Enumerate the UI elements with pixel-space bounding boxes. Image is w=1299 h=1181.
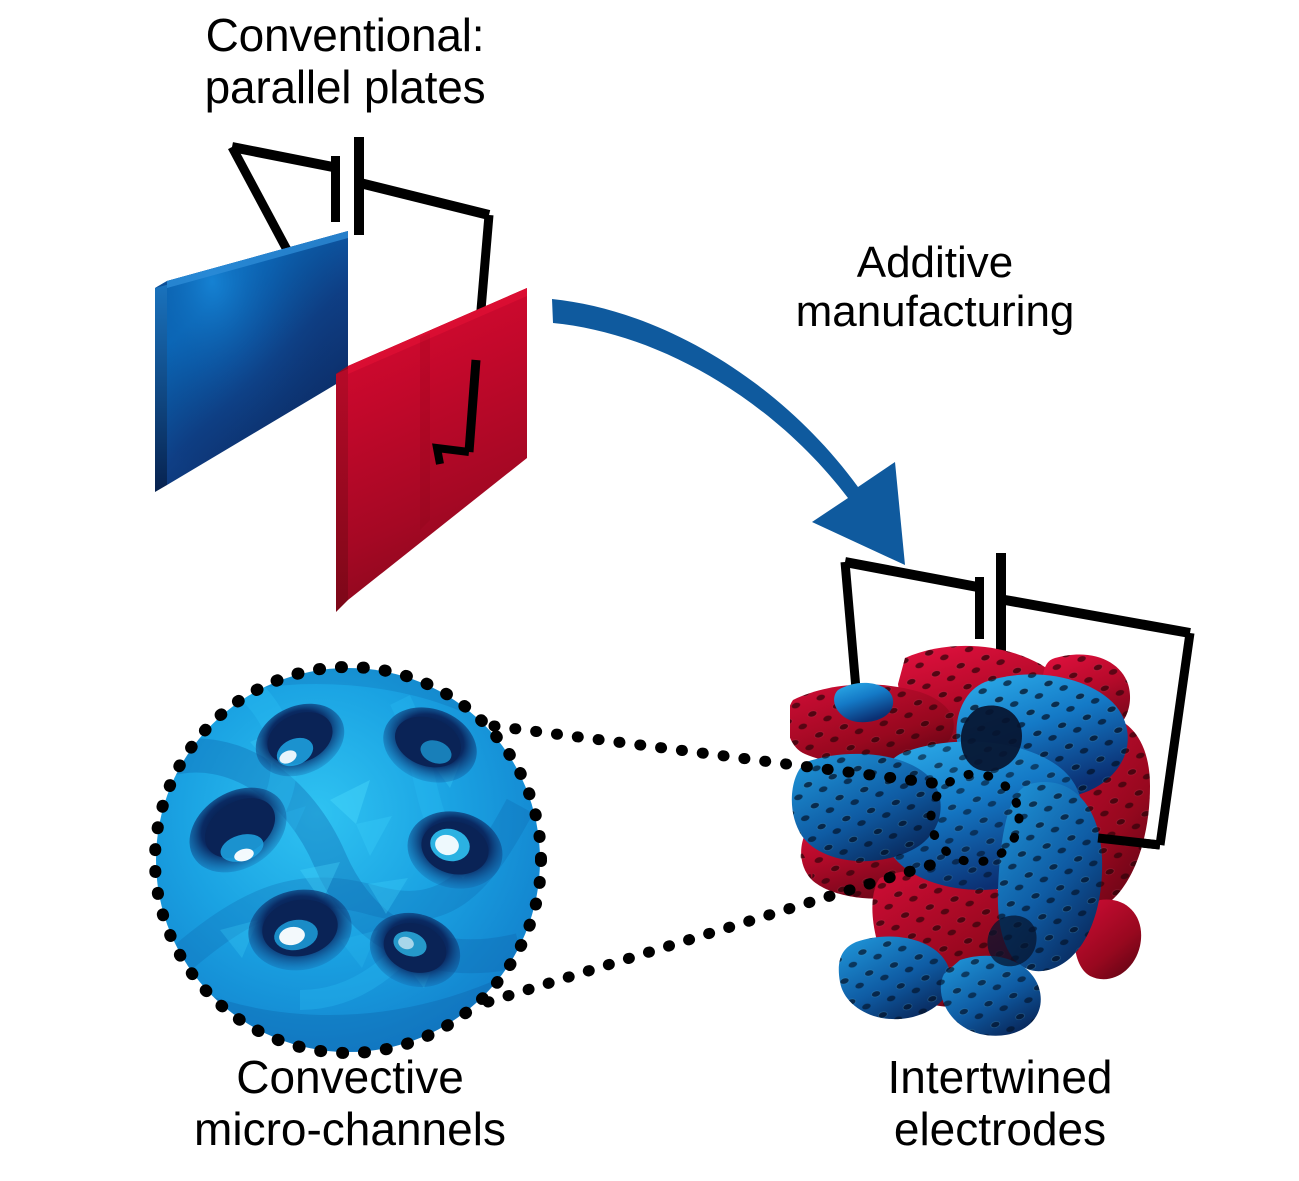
gyroid-blue-network bbox=[792, 674, 1128, 1035]
micro-channel-inset bbox=[154, 666, 542, 1054]
inset-boundary-circle bbox=[155, 667, 541, 1053]
gyroid-central-void bbox=[961, 706, 1022, 772]
additive-manufacturing-arrow bbox=[552, 299, 905, 565]
leader-line-upper bbox=[494, 726, 940, 784]
gyroid-circuit-wire bbox=[845, 562, 1190, 845]
battery-symbol-right bbox=[975, 553, 1006, 651]
caption-intertwined-electrodes: Intertwined electrodes bbox=[790, 1052, 1210, 1155]
micro-channel-opening bbox=[360, 902, 470, 999]
micro-channel-opening bbox=[373, 695, 488, 795]
micro-channel-opening bbox=[174, 770, 302, 890]
circuit-wire-left bbox=[232, 147, 338, 276]
micro-channel-opening bbox=[399, 802, 511, 899]
label-additive-manufacturing: Additive manufacturing bbox=[700, 238, 1170, 337]
callout-leader-lines bbox=[488, 726, 940, 1002]
figure-graphics bbox=[0, 0, 1299, 1181]
micro-channel-opening bbox=[242, 882, 358, 979]
gyroid-zoom-marker-circle bbox=[931, 774, 1019, 862]
figure-canvas: Conventional: parallel plates Additive m… bbox=[0, 0, 1299, 1181]
gyroid-wire-terminal bbox=[1098, 838, 1160, 845]
intertwined-electrode-cell bbox=[787, 553, 1190, 1036]
circuit-wire-right bbox=[360, 183, 489, 463]
red-parallel-plate bbox=[336, 288, 527, 612]
conventional-parallel-plate-cell bbox=[155, 137, 527, 612]
battery-symbol-left bbox=[331, 137, 364, 235]
leader-line-lower bbox=[488, 862, 940, 1002]
circuit-wire-over-plate bbox=[437, 360, 476, 464]
page-title-conventional: Conventional: parallel plates bbox=[0, 10, 690, 113]
caption-convective-micro-channels: Convective micro-channels bbox=[70, 1052, 630, 1155]
micro-channel-opening bbox=[244, 690, 356, 790]
gyroid-red-network bbox=[787, 646, 1150, 1007]
blue-parallel-plate bbox=[155, 231, 348, 492]
